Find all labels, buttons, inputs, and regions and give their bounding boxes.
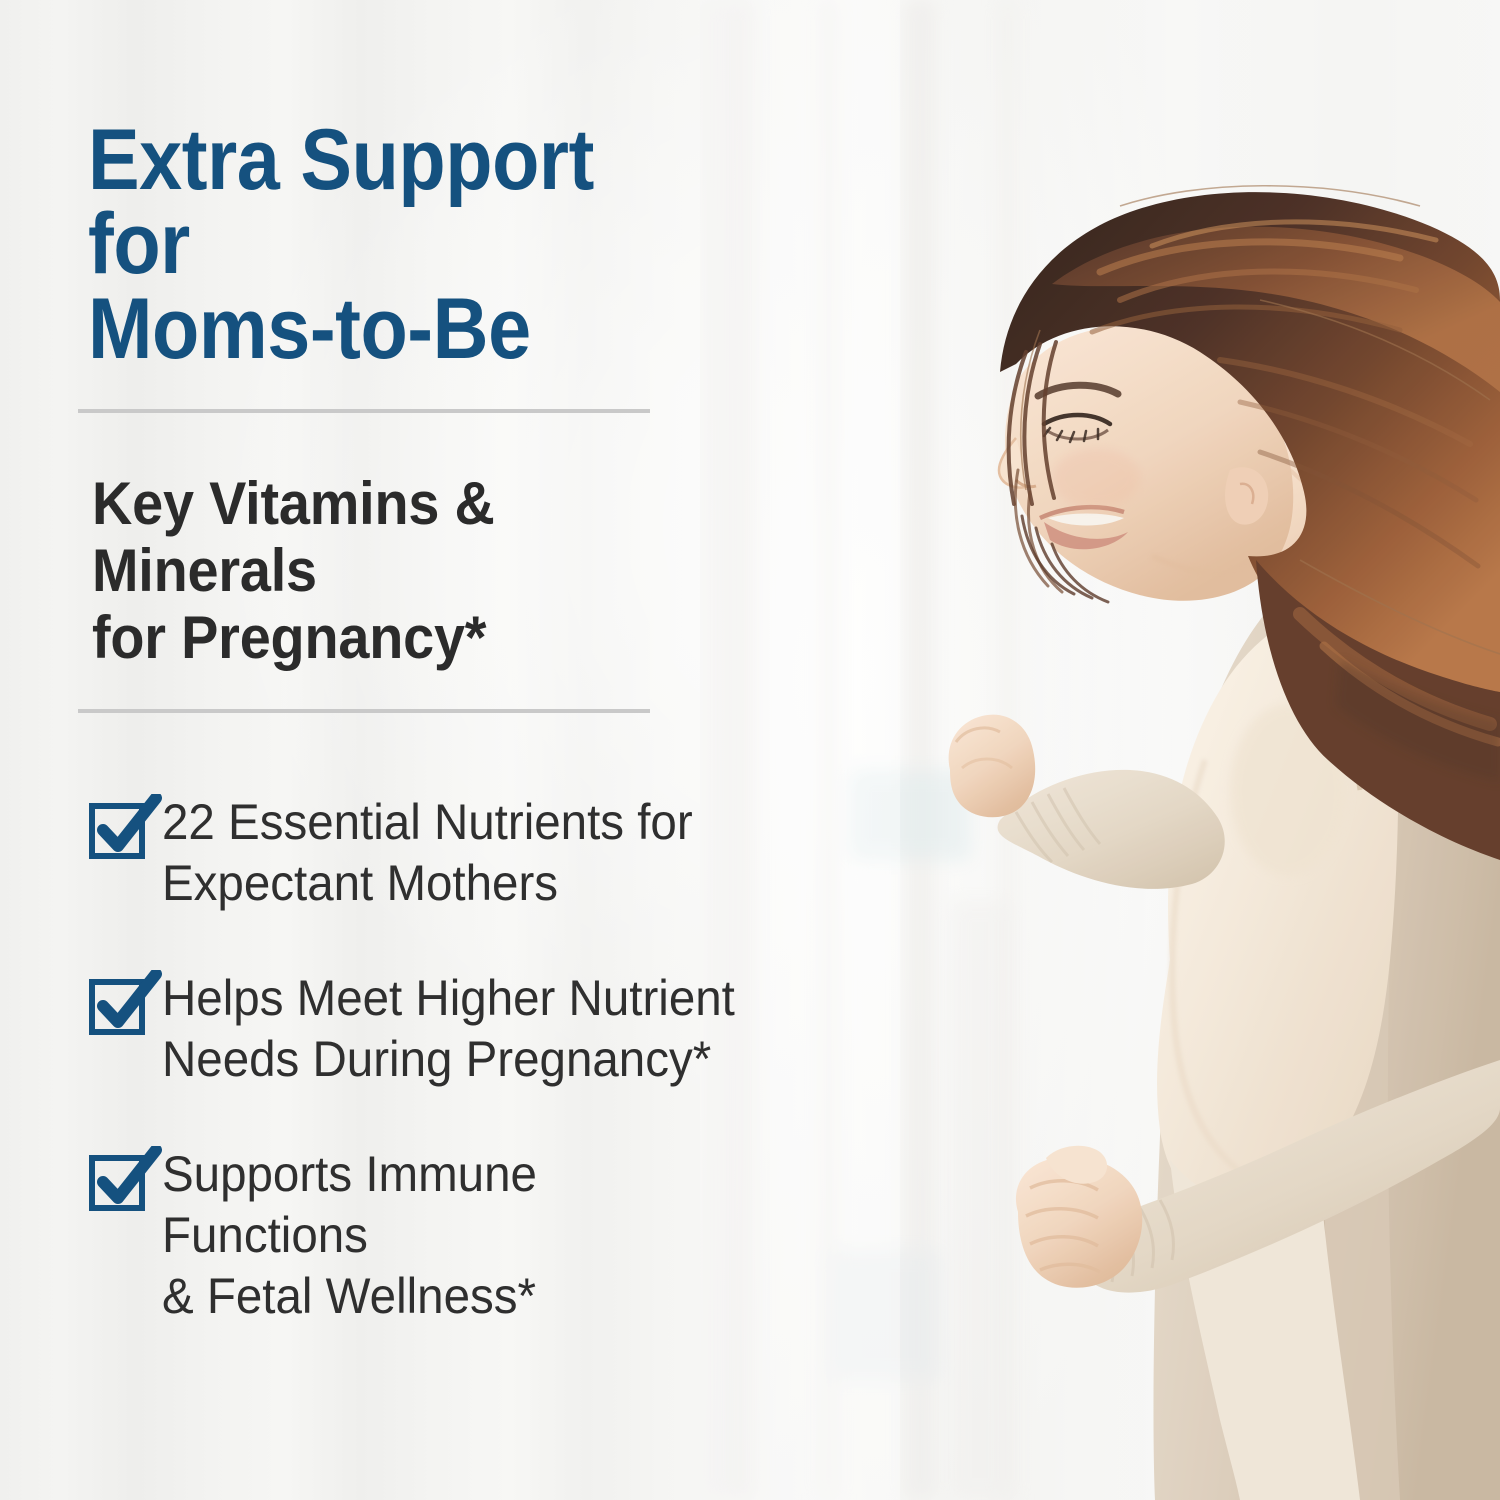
pregnant-woman-photo <box>700 0 1500 1500</box>
benefits-list: 22 Essential Nutrients for Expectant Mot… <box>88 790 768 1379</box>
page-title: Extra Support for Moms-to-Be <box>88 118 664 371</box>
list-item: Supports Immune Functions & Fetal Wellne… <box>88 1142 768 1327</box>
divider-below-subheading <box>78 709 650 713</box>
checkbox-checked-icon <box>88 1146 162 1212</box>
subheading: Key Vitamins & Minerals for Pregnancy* <box>92 470 687 672</box>
list-item-label: Helps Meet Higher Nutrient Needs During … <box>162 966 738 1090</box>
product-feature-graphic: Extra Support for Moms-to-Be Key Vitamin… <box>0 0 1500 1500</box>
list-item: Helps Meet Higher Nutrient Needs During … <box>88 966 768 1090</box>
checkbox-checked-icon <box>88 794 162 860</box>
list-item-label: 22 Essential Nutrients for Expectant Mot… <box>162 790 738 914</box>
list-item-label: Supports Immune Functions & Fetal Wellne… <box>162 1142 738 1327</box>
copy-column: Extra Support for Moms-to-Be Key Vitamin… <box>0 0 760 1500</box>
divider-above-subheading <box>78 409 650 413</box>
list-item: 22 Essential Nutrients for Expectant Mot… <box>88 790 768 914</box>
checkbox-checked-icon <box>88 970 162 1036</box>
